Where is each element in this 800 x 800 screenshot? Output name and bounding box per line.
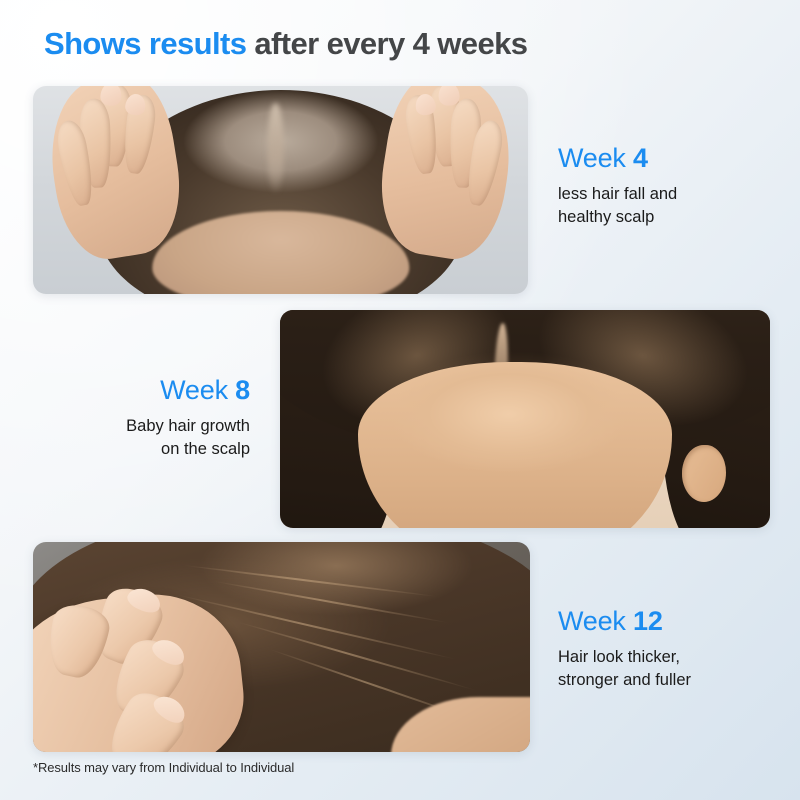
week12-description: Hair look thicker, stronger and fuller <box>558 646 691 693</box>
hand-running-through-thick-hair-photo <box>33 542 530 752</box>
week4-title: Week 4 <box>558 143 677 174</box>
page-title-rest: after every 4 weeks <box>246 26 527 61</box>
week4-title-number: 4 <box>633 143 648 173</box>
week8-photo-card <box>280 310 770 528</box>
week12-title-label: Week <box>558 606 633 636</box>
week4-description: less hair fall and healthy scalp <box>558 183 677 230</box>
week12-photo-card <box>33 542 530 752</box>
page-title: Shows results after every 4 weeks <box>44 26 527 62</box>
forehead-hairline-closeup-photo <box>280 310 770 528</box>
week8-caption: Week 8 Baby hair growth on the scalp <box>40 375 250 462</box>
week8-description: Baby hair growth on the scalp <box>40 415 250 462</box>
week8-title-number: 8 <box>235 375 250 405</box>
disclaimer-footnote: *Results may vary from Individual to Ind… <box>33 760 294 775</box>
week4-caption: Week 4 less hair fall and healthy scalp <box>558 143 677 230</box>
week12-title-number: 12 <box>633 606 663 636</box>
week8-title-label: Week <box>160 375 235 405</box>
week4-title-label: Week <box>558 143 633 173</box>
hair-results-infographic: Shows results after every 4 weeks <box>0 0 800 800</box>
week4-photo-card <box>33 86 528 294</box>
week12-title: Week 12 <box>558 606 691 637</box>
scalp-parting-with-hands-photo <box>33 86 528 294</box>
page-title-highlight: Shows results <box>44 26 246 61</box>
week12-caption: Week 12 Hair look thicker, stronger and … <box>558 606 691 693</box>
week8-title: Week 8 <box>40 375 250 406</box>
